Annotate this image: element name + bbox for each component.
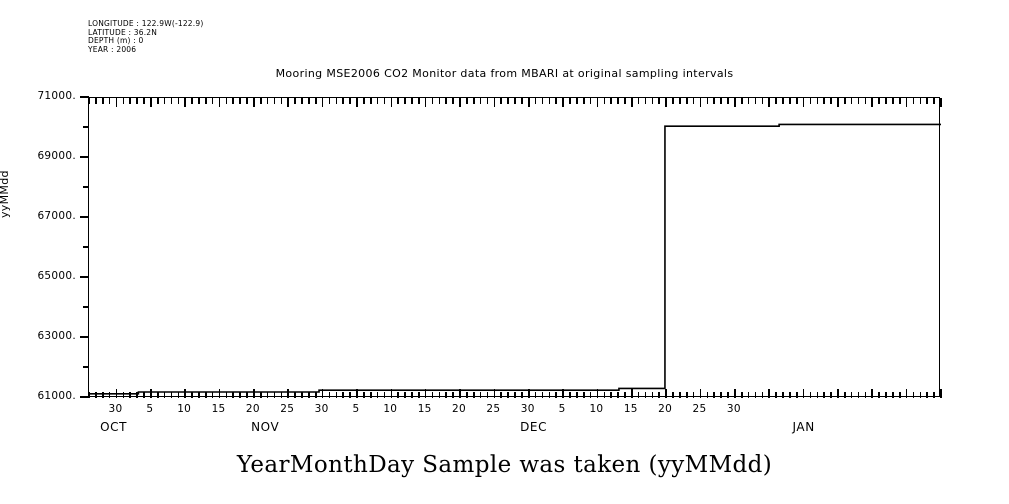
x-axis-minor-tick-top (590, 98, 592, 104)
x-axis-minor-tick-top (232, 98, 234, 104)
x-axis-minor-tick-top (411, 98, 413, 104)
x-axis-minor-tick-bottom (762, 392, 764, 398)
x-axis-minor-tick-bottom (810, 392, 812, 398)
y-axis-tick-label: 63000. (0, 330, 76, 342)
x-axis-minor-tick-bottom (707, 392, 709, 398)
x-axis-minor-tick-bottom (775, 392, 777, 398)
x-axis-minor-tick-top (521, 98, 523, 104)
x-axis-minor-tick-bottom (164, 392, 166, 398)
x-axis-major-tick-bottom (837, 389, 839, 398)
x-axis-major-tick-top (631, 98, 633, 107)
metadata-block: LONGITUDE : 122.9W(-122.9) LATITUDE : 36… (88, 20, 203, 54)
x-axis-minor-tick-bottom (260, 392, 262, 398)
x-axis-minor-tick-bottom (109, 392, 111, 398)
x-axis-minor-tick-bottom (143, 392, 145, 398)
x-axis-minor-tick-bottom (452, 392, 454, 398)
x-axis-minor-tick-bottom (178, 392, 180, 398)
x-axis-tick-label: 30 (714, 403, 754, 415)
x-axis-major-tick-bottom (459, 389, 461, 398)
x-axis-minor-tick-top (844, 98, 846, 104)
x-axis-minor-tick-top (851, 98, 853, 104)
x-axis-major-tick-bottom (562, 389, 564, 398)
x-axis-minor-tick-top (274, 98, 276, 104)
x-axis-minor-tick-top (500, 98, 502, 104)
x-axis-minor-tick-top (755, 98, 757, 104)
x-axis-major-tick-bottom (906, 389, 908, 398)
x-axis-minor-tick-bottom (267, 392, 269, 398)
x-axis-minor-tick-top (576, 98, 578, 104)
month-label: OCT (84, 420, 144, 434)
x-axis-minor-tick-top (878, 98, 880, 104)
x-axis-minor-tick-bottom (727, 392, 729, 398)
x-axis-major-tick-top (528, 98, 530, 107)
x-axis-minor-tick-bottom (542, 392, 544, 398)
x-axis-minor-tick-top (775, 98, 777, 104)
x-axis-minor-tick-top (294, 98, 296, 104)
x-axis-minor-tick-top (913, 98, 915, 104)
x-axis-minor-tick-top (782, 98, 784, 104)
x-axis-minor-tick-bottom (590, 392, 592, 398)
x-axis-minor-tick-top (720, 98, 722, 104)
x-axis-minor-tick-top (652, 98, 654, 104)
x-axis-minor-tick-top (397, 98, 399, 104)
x-axis-major-tick-bottom (116, 389, 118, 398)
x-axis-minor-tick-top (823, 98, 825, 104)
x-axis-minor-tick-bottom (507, 392, 509, 398)
x-axis-minor-tick-bottom (858, 392, 860, 398)
x-axis-minor-tick-bottom (239, 392, 241, 398)
x-axis-minor-tick-bottom (514, 392, 516, 398)
x-axis-major-tick-top (391, 98, 393, 107)
x-axis-minor-tick-top (129, 98, 131, 104)
x-axis-title: YearMonthDay Sample was taken (yyMMdd) (0, 452, 1009, 478)
x-axis-minor-tick-top (817, 98, 819, 104)
x-axis-minor-tick-top (535, 98, 537, 104)
x-axis-minor-tick-bottom (102, 392, 104, 398)
x-axis-major-tick-top (219, 98, 221, 107)
x-axis-minor-tick-top (102, 98, 104, 104)
x-axis-minor-tick-bottom (892, 392, 894, 398)
x-axis-minor-tick-bottom (569, 392, 571, 398)
x-axis-minor-tick-top (143, 98, 145, 104)
x-axis-minor-tick-top (439, 98, 441, 104)
x-axis-major-tick-bottom (287, 389, 289, 398)
x-axis-minor-tick-bottom (274, 392, 276, 398)
x-axis-major-tick-top (665, 98, 667, 107)
x-axis-minor-tick-top (260, 98, 262, 104)
x-axis-minor-tick-bottom (652, 392, 654, 398)
x-axis-minor-tick-bottom (342, 392, 344, 398)
y-axis-title: yyMMdd (0, 128, 11, 218)
x-axis-minor-tick-top (349, 98, 351, 104)
x-axis-minor-tick-bottom (658, 392, 660, 398)
x-axis-minor-tick-bottom (123, 392, 125, 398)
chart-title: Mooring MSE2006 CO2 Monitor data from MB… (0, 67, 1009, 80)
x-axis-major-tick-top (150, 98, 152, 107)
x-axis-minor-tick-top (308, 98, 310, 104)
x-axis-major-tick-top (803, 98, 805, 107)
x-axis-minor-tick-top (645, 98, 647, 104)
x-axis-major-tick-bottom (631, 389, 633, 398)
x-axis-minor-tick-top (88, 98, 90, 104)
x-axis-major-tick-bottom (597, 389, 599, 398)
x-axis-minor-tick-bottom (198, 392, 200, 398)
x-axis-major-tick-top (562, 98, 564, 107)
x-axis-minor-tick-bottom (851, 392, 853, 398)
y-axis-tick-label: 65000. (0, 270, 76, 282)
x-axis-minor-tick-bottom (741, 392, 743, 398)
x-axis-minor-tick-top (892, 98, 894, 104)
y-axis-tick-label: 71000. (0, 90, 76, 102)
x-axis-minor-tick-bottom (817, 392, 819, 398)
x-axis-minor-tick-bottom (549, 392, 551, 398)
x-axis-minor-tick-top (377, 98, 379, 104)
x-axis-major-tick-bottom (768, 389, 770, 398)
x-axis-minor-tick-bottom (555, 392, 557, 398)
x-axis-minor-tick-bottom (418, 392, 420, 398)
x-axis-minor-tick-top (920, 98, 922, 104)
x-axis-minor-tick-bottom (693, 392, 695, 398)
x-axis-minor-tick-top (686, 98, 688, 104)
x-axis-minor-tick-bottom (830, 392, 832, 398)
x-axis-major-tick-bottom (665, 389, 667, 398)
x-axis-minor-tick-bottom (384, 392, 386, 398)
x-axis-major-tick-bottom (150, 389, 152, 398)
x-axis-minor-tick-bottom (913, 392, 915, 398)
x-axis-minor-tick-top (487, 98, 489, 104)
y-axis-tick-label: 69000. (0, 150, 76, 162)
x-axis-minor-tick-bottom (88, 392, 90, 398)
x-axis-minor-tick-bottom (329, 392, 331, 398)
x-axis-minor-tick-bottom (439, 392, 441, 398)
x-axis-minor-tick-top (865, 98, 867, 104)
x-axis-minor-tick-bottom (129, 392, 131, 398)
x-axis-minor-tick-bottom (865, 392, 867, 398)
x-axis-minor-tick-bottom (878, 392, 880, 398)
x-axis-minor-tick-top (315, 98, 317, 104)
x-axis-minor-tick-top (164, 98, 166, 104)
x-axis-minor-tick-top (473, 98, 475, 104)
x-axis-minor-tick-bottom (445, 392, 447, 398)
x-axis-major-tick-top (871, 98, 873, 107)
x-axis-minor-tick-bottom (823, 392, 825, 398)
x-axis-minor-tick-bottom (315, 392, 317, 398)
x-axis-major-tick-top (597, 98, 599, 107)
x-axis-major-tick-bottom (219, 389, 221, 398)
x-axis-minor-tick-bottom (232, 392, 234, 398)
x-axis-minor-tick-bottom (933, 392, 935, 398)
x-axis-minor-tick-top (858, 98, 860, 104)
x-axis-minor-tick-top (583, 98, 585, 104)
x-axis-minor-tick-top (329, 98, 331, 104)
x-axis-minor-tick-top (466, 98, 468, 104)
x-axis-minor-tick-bottom (171, 392, 173, 398)
x-axis-major-tick-bottom (700, 389, 702, 398)
x-axis-minor-tick-bottom (926, 392, 928, 398)
x-axis-major-tick-bottom (253, 389, 255, 398)
x-axis-minor-tick-bottom (521, 392, 523, 398)
x-axis-minor-tick-bottom (796, 392, 798, 398)
x-axis-minor-tick-top (226, 98, 228, 104)
x-axis-minor-tick-top (638, 98, 640, 104)
x-axis-minor-tick-top (748, 98, 750, 104)
x-axis-minor-tick-top (370, 98, 372, 104)
x-axis-minor-tick-top (679, 98, 681, 104)
x-axis-minor-tick-bottom (500, 392, 502, 398)
x-axis-minor-tick-top (404, 98, 406, 104)
x-axis-major-tick-top (768, 98, 770, 107)
x-axis-minor-tick-top (198, 98, 200, 104)
x-axis-minor-tick-top (885, 98, 887, 104)
x-axis-minor-tick-top (109, 98, 111, 104)
x-axis-minor-tick-top (191, 98, 193, 104)
x-axis-major-tick-top (356, 98, 358, 107)
x-axis-major-tick-top (700, 98, 702, 107)
x-axis-minor-tick-top (212, 98, 214, 104)
x-axis-minor-tick-bottom (95, 392, 97, 398)
x-axis-minor-tick-top (95, 98, 97, 104)
x-axis-minor-tick-top (933, 98, 935, 104)
x-axis-minor-tick-bottom (377, 392, 379, 398)
x-axis-minor-tick-top (707, 98, 709, 104)
x-axis-minor-tick-top (136, 98, 138, 104)
x-axis-minor-tick-bottom (411, 392, 413, 398)
data-series-line (89, 124, 941, 393)
x-axis-minor-tick-top (569, 98, 571, 104)
x-axis-minor-tick-top (549, 98, 551, 104)
x-axis-minor-tick-top (384, 98, 386, 104)
x-axis-minor-tick-top (123, 98, 125, 104)
x-axis-minor-tick-bottom (432, 392, 434, 398)
x-axis-minor-tick-top (789, 98, 791, 104)
x-axis-minor-tick-bottom (226, 392, 228, 398)
x-axis-minor-tick-bottom (370, 392, 372, 398)
x-axis-minor-tick-top (301, 98, 303, 104)
x-axis-minor-tick-bottom (604, 392, 606, 398)
x-axis-minor-tick-top (713, 98, 715, 104)
chart-canvas: LONGITUDE : 122.9W(-122.9) LATITUDE : 36… (0, 0, 1009, 504)
x-axis-major-tick-top (494, 98, 496, 107)
y-axis-tick-label: 61000. (0, 390, 76, 402)
x-axis-minor-tick-top (741, 98, 743, 104)
plot-area (88, 97, 940, 397)
x-axis-minor-tick-top (246, 98, 248, 104)
x-axis-major-tick-bottom (940, 389, 942, 398)
x-axis-minor-tick-bottom (294, 392, 296, 398)
x-axis-minor-tick-bottom (645, 392, 647, 398)
x-axis-minor-tick-bottom (686, 392, 688, 398)
x-axis-minor-tick-bottom (755, 392, 757, 398)
x-axis-minor-tick-top (926, 98, 928, 104)
x-axis-minor-tick-bottom (466, 392, 468, 398)
x-axis-minor-tick-top (178, 98, 180, 104)
x-axis-minor-tick-top (624, 98, 626, 104)
x-axis-major-tick-top (837, 98, 839, 107)
x-axis-minor-tick-bottom (212, 392, 214, 398)
x-axis-minor-tick-top (658, 98, 660, 104)
month-label: NOV (235, 420, 295, 434)
x-axis-minor-tick-bottom (679, 392, 681, 398)
x-axis-major-tick-top (116, 98, 118, 107)
x-axis-major-tick-top (287, 98, 289, 107)
x-axis-minor-tick-bottom (191, 392, 193, 398)
x-axis-major-tick-top (253, 98, 255, 107)
x-axis-minor-tick-top (157, 98, 159, 104)
x-axis-major-tick-bottom (494, 389, 496, 398)
x-axis-minor-tick-top (281, 98, 283, 104)
x-axis-minor-tick-bottom (281, 392, 283, 398)
x-axis-major-tick-top (734, 98, 736, 107)
x-axis-minor-tick-top (336, 98, 338, 104)
x-axis-minor-tick-bottom (920, 392, 922, 398)
x-axis-major-tick-bottom (322, 389, 324, 398)
x-axis-minor-tick-top (830, 98, 832, 104)
x-axis-minor-tick-bottom (480, 392, 482, 398)
x-axis-minor-tick-top (762, 98, 764, 104)
x-axis-minor-tick-bottom (782, 392, 784, 398)
metadata-year: YEAR : 2006 (88, 46, 203, 55)
x-axis-minor-tick-bottom (336, 392, 338, 398)
x-axis-minor-tick-bottom (157, 392, 159, 398)
x-axis-minor-tick-top (542, 98, 544, 104)
x-axis-minor-tick-bottom (624, 392, 626, 398)
x-axis-minor-tick-top (693, 98, 695, 104)
x-axis-minor-tick-bottom (487, 392, 489, 398)
x-axis-minor-tick-top (418, 98, 420, 104)
x-axis-major-tick-bottom (391, 389, 393, 398)
x-axis-major-tick-bottom (425, 389, 427, 398)
x-axis-major-tick-bottom (803, 389, 805, 398)
x-axis-minor-tick-bottom (349, 392, 351, 398)
x-axis-minor-tick-bottom (301, 392, 303, 398)
x-axis-minor-tick-bottom (583, 392, 585, 398)
x-axis-minor-tick-bottom (844, 392, 846, 398)
x-axis-major-tick-top (940, 98, 942, 107)
x-axis-minor-tick-bottom (885, 392, 887, 398)
x-axis-minor-tick-top (555, 98, 557, 104)
x-axis-minor-tick-bottom (363, 392, 365, 398)
x-axis-minor-tick-top (610, 98, 612, 104)
x-axis-minor-tick-top (810, 98, 812, 104)
x-axis-minor-tick-bottom (638, 392, 640, 398)
x-axis-minor-tick-top (267, 98, 269, 104)
x-axis-minor-tick-top (514, 98, 516, 104)
x-axis-minor-tick-top (796, 98, 798, 104)
x-axis-minor-tick-bottom (535, 392, 537, 398)
x-axis-minor-tick-top (432, 98, 434, 104)
x-axis-major-tick-bottom (184, 389, 186, 398)
x-axis-minor-tick-bottom (672, 392, 674, 398)
x-axis-major-tick-top (184, 98, 186, 107)
x-axis-minor-tick-bottom (713, 392, 715, 398)
x-axis-minor-tick-bottom (617, 392, 619, 398)
x-axis-minor-tick-bottom (720, 392, 722, 398)
x-axis-major-tick-bottom (734, 389, 736, 398)
x-axis-major-tick-top (322, 98, 324, 107)
x-axis-minor-tick-top (342, 98, 344, 104)
x-axis-minor-tick-top (604, 98, 606, 104)
x-axis-minor-tick-top (507, 98, 509, 104)
x-axis-minor-tick-top (899, 98, 901, 104)
x-axis-major-tick-bottom (356, 389, 358, 398)
x-axis-major-tick-top (459, 98, 461, 107)
x-axis-minor-tick-bottom (610, 392, 612, 398)
x-axis-minor-tick-top (727, 98, 729, 104)
x-axis-major-tick-top (906, 98, 908, 107)
month-label: JAN (774, 420, 834, 434)
data-line-svg (89, 98, 941, 398)
x-axis-minor-tick-top (480, 98, 482, 104)
x-axis-minor-tick-bottom (576, 392, 578, 398)
month-label: DEC (504, 420, 564, 434)
x-axis-major-tick-bottom (528, 389, 530, 398)
x-axis-minor-tick-top (617, 98, 619, 104)
x-axis-minor-tick-bottom (789, 392, 791, 398)
x-axis-minor-tick-bottom (404, 392, 406, 398)
x-axis-minor-tick-bottom (246, 392, 248, 398)
x-axis-minor-tick-bottom (473, 392, 475, 398)
x-axis-major-tick-bottom (871, 389, 873, 398)
x-axis-minor-tick-bottom (205, 392, 207, 398)
x-axis-minor-tick-top (239, 98, 241, 104)
x-axis-minor-tick-bottom (748, 392, 750, 398)
x-axis-minor-tick-top (205, 98, 207, 104)
x-axis-minor-tick-top (363, 98, 365, 104)
x-axis-minor-tick-bottom (136, 392, 138, 398)
x-axis-minor-tick-bottom (308, 392, 310, 398)
x-axis-minor-tick-top (445, 98, 447, 104)
x-axis-minor-tick-bottom (397, 392, 399, 398)
x-axis-minor-tick-top (171, 98, 173, 104)
x-axis-major-tick-top (425, 98, 427, 107)
x-axis-minor-tick-top (672, 98, 674, 104)
x-axis-minor-tick-bottom (899, 392, 901, 398)
x-axis-minor-tick-top (452, 98, 454, 104)
y-axis-tick-label: 67000. (0, 210, 76, 222)
